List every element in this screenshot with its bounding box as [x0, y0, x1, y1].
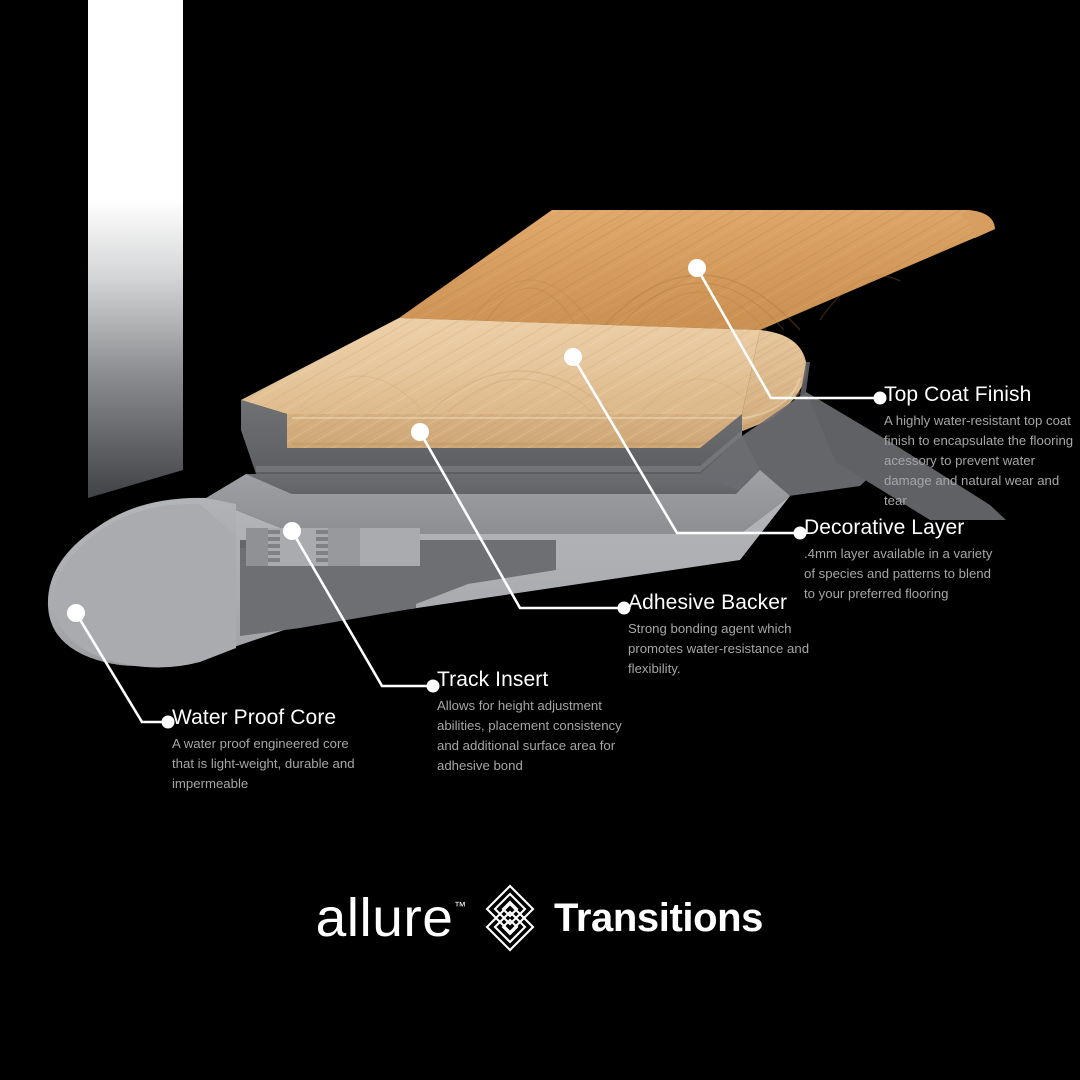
trademark-symbol: ™	[454, 900, 466, 912]
callout-body: Strong bonding agent which promotes wate…	[628, 619, 828, 679]
allure-wordmark: allure ™	[317, 891, 466, 945]
leader-dot-decorative	[564, 348, 582, 366]
callout-title: Top Coat Finish	[884, 383, 1074, 407]
callout-top-coat-finish: Top Coat Finish A highly water-resistant…	[884, 383, 1074, 511]
callout-title: Adhesive Backer	[628, 591, 828, 615]
callout-title: Track Insert	[437, 668, 633, 692]
layer-decorative	[241, 318, 806, 448]
allure-brand-text: allure	[316, 891, 454, 945]
callout-water-proof-core: Water Proof Core A water proof engineere…	[172, 706, 372, 794]
callout-decorative-layer: Decorative Layer .4mm layer available in…	[804, 516, 1004, 604]
diamond-lozenge-emblem	[482, 883, 538, 953]
leader-dot-adhesive	[411, 423, 429, 441]
callout-title: Water Proof Core	[172, 706, 372, 730]
leader-dot-track	[283, 522, 301, 540]
callout-title: Decorative Layer	[804, 516, 1004, 540]
product-diagram-page: Top Coat Finish A highly water-resistant…	[0, 0, 1080, 1080]
leader-dot-top-coat	[688, 259, 706, 277]
callout-track-insert: Track Insert Allows for height adjustmen…	[437, 668, 633, 776]
callout-body: A highly water-resistant top coat finish…	[884, 411, 1074, 511]
callout-body: A water proof engineered core that is li…	[172, 734, 372, 794]
callout-body: Allows for height adjustment abilities, …	[437, 696, 633, 776]
leader-dot-core	[67, 604, 85, 622]
product-line-text: Transitions	[554, 898, 763, 938]
background-riser	[88, 0, 183, 498]
callout-body: .4mm layer available in a variety of spe…	[804, 544, 1004, 604]
brand-logo: allure ™ Transitions	[0, 876, 1080, 960]
callout-adhesive-backer: Adhesive Backer Strong bonding agent whi…	[628, 591, 828, 679]
layer-track-insert	[246, 528, 420, 586]
